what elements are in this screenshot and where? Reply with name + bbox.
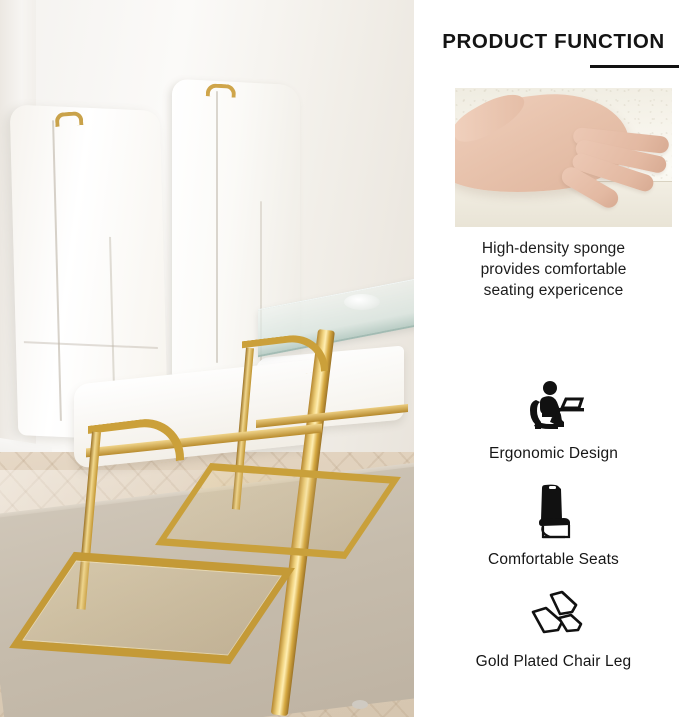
feature-comfortable-seats: Comfortable Seats: [424, 484, 679, 569]
person-sitting-at-desk-icon: [424, 378, 679, 434]
product-infographic-page: PRODUCT FUNCTION High-density sponge pro…: [0, 0, 679, 717]
feature-label: Comfortable Seats: [424, 551, 679, 569]
gold-handle-loop-icon: [206, 83, 237, 98]
sponge-caption-line-2: provides comfortable: [440, 259, 667, 280]
chair-seam: [24, 341, 158, 349]
sponge-caption-line-1: High-density sponge: [440, 238, 667, 259]
chair-silhouette-icon: [424, 484, 679, 540]
feature-ergonomic-design: Ergonomic Design: [424, 378, 679, 463]
gold-handle-loop-icon: [55, 111, 84, 127]
feature-label: Gold Plated Chair Leg: [424, 653, 679, 671]
feature-gold-plated-chair-leg: Gold Plated Chair Leg: [424, 586, 679, 671]
gold-bars-icon: [424, 586, 679, 642]
info-panel: PRODUCT FUNCTION High-density sponge pro…: [414, 0, 679, 717]
product-photo: [0, 0, 414, 717]
chair-seam: [216, 91, 218, 363]
sponge-photo: [455, 88, 672, 227]
sponge-caption: High-density sponge provides comfortable…: [440, 238, 667, 301]
page-title: PRODUCT FUNCTION: [428, 30, 679, 54]
title-underline: [590, 65, 679, 68]
feature-label: Ergonomic Design: [424, 445, 679, 463]
sponge-caption-line-3: seating expericence: [440, 280, 667, 301]
table-foot: [352, 700, 368, 709]
chair-seam: [52, 120, 62, 421]
table-bumper: [344, 294, 380, 310]
